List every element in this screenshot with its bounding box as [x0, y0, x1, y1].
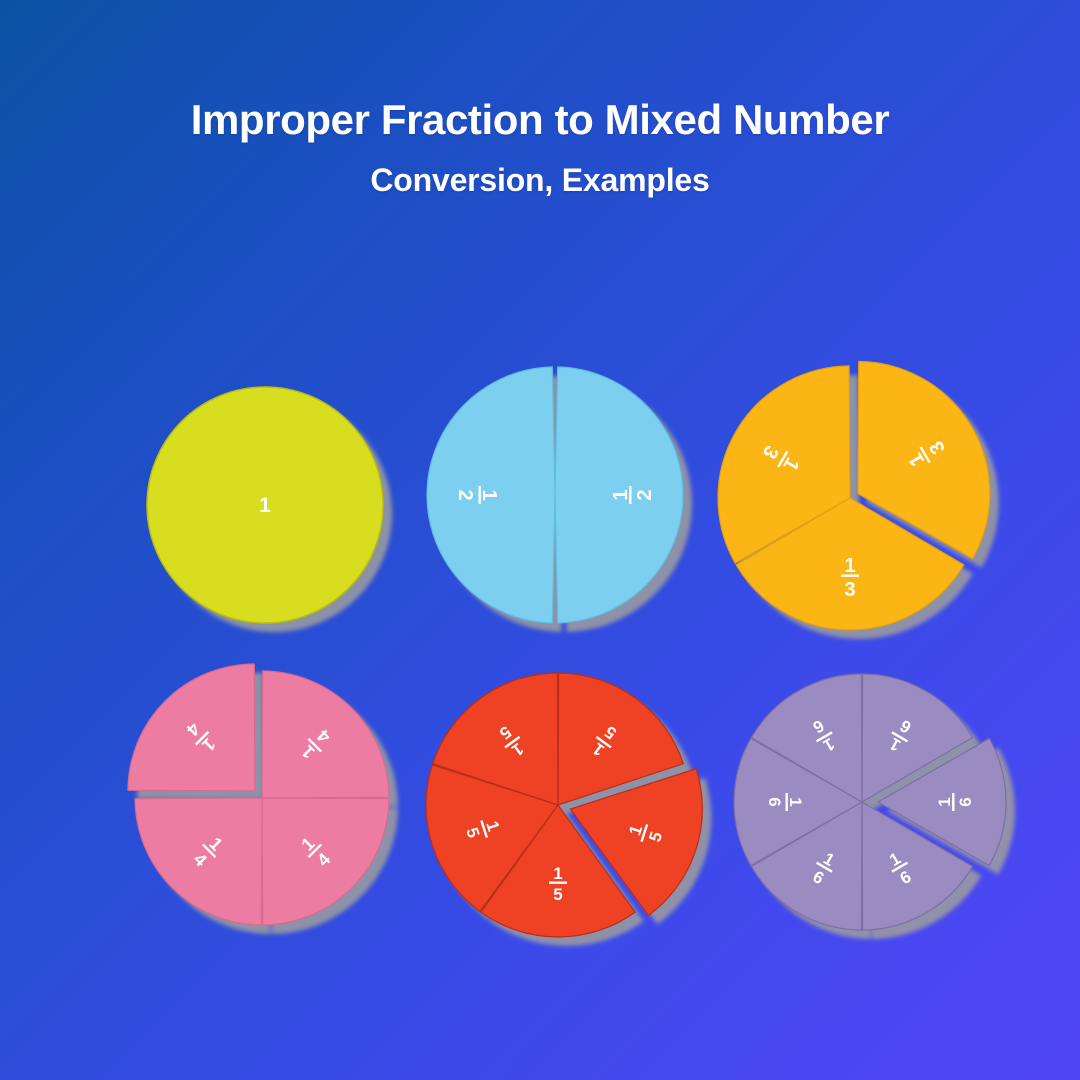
pie-svg-sixths-circle: 161616161616	[712, 652, 1012, 952]
fraction-denominator: 6	[956, 797, 975, 806]
pie-fifths-circle[interactable]: 1515151515	[408, 655, 708, 955]
fraction-numerator: 1	[610, 489, 632, 500]
pie-wrap: 1212	[405, 345, 705, 645]
fraction-denominator: 5	[553, 885, 562, 904]
page-subtitle: Conversion, Examples	[0, 162, 1080, 199]
fraction-numerator: 1	[786, 797, 805, 806]
pie-wrap: 1	[115, 355, 415, 655]
fraction-numerator: 1	[844, 555, 855, 577]
fraction-numerator: 1	[478, 489, 500, 500]
fraction-denominator: 3	[844, 579, 855, 601]
pie-thirds-circle[interactable]: 131313	[700, 348, 1000, 648]
pie-labels: 1	[259, 494, 271, 517]
fraction-pie-grid: 1121213131314141414151515151516161616161…	[0, 330, 1080, 1010]
pie-wrap: 1515151515	[408, 655, 708, 955]
pie-whole-label: 1	[259, 494, 271, 517]
pie-sixths-circle[interactable]: 161616161616	[712, 652, 1012, 952]
pie-quarters-circle[interactable]: 14141414	[112, 648, 412, 948]
fraction-denominator: 2	[454, 489, 476, 500]
page-title: Improper Fraction to Mixed Number	[0, 98, 1080, 142]
pie-svg-fifths-circle: 1515151515	[408, 655, 708, 955]
header: Improper Fraction to Mixed Number Conver…	[0, 98, 1080, 199]
pie-wrap: 14141414	[112, 648, 412, 948]
fraction-numerator: 1	[553, 864, 562, 883]
pie-wrap: 161616161616	[712, 652, 1012, 952]
fraction-numerator: 1	[935, 797, 954, 806]
pie-svg-halves-circle: 1212	[405, 345, 705, 645]
pie-svg-whole-circle: 1	[115, 355, 415, 655]
pie-svg-thirds-circle: 131313	[700, 348, 1000, 648]
pie-halves-circle[interactable]: 1212	[405, 345, 705, 645]
pie-whole-circle[interactable]: 1	[115, 355, 415, 655]
pie-svg-quarters-circle: 14141414	[112, 648, 412, 948]
poster-canvas: Improper Fraction to Mixed Number Conver…	[0, 0, 1080, 1080]
fraction-denominator: 6	[765, 797, 784, 806]
pie-wrap: 131313	[700, 348, 1000, 648]
fraction-denominator: 2	[634, 489, 656, 500]
